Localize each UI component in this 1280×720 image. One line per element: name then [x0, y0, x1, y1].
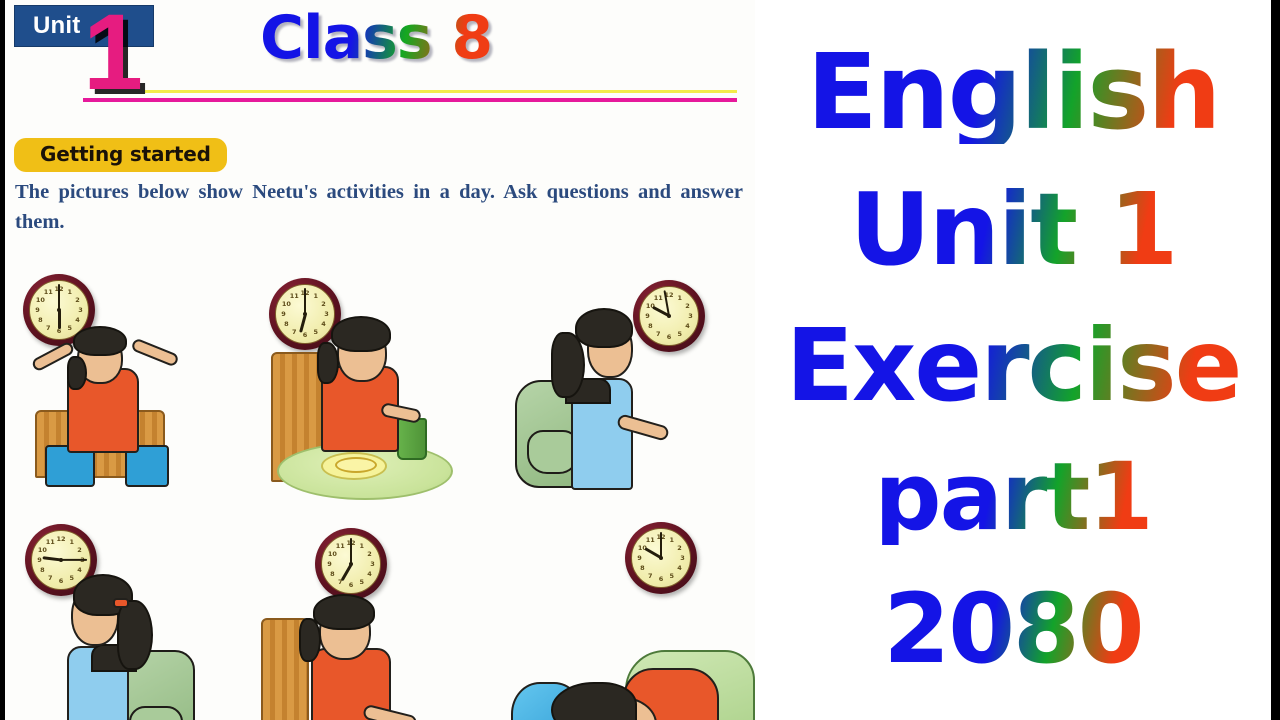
- section-banner-getting-started: Getting started: [14, 138, 227, 172]
- unit-badge-label: Unit: [15, 12, 80, 40]
- picture-sleeping: 12 1 2 3 4 5 6 7 8 9 10 11: [505, 510, 755, 720]
- title-line-exercise: Exercise: [786, 317, 1241, 415]
- clock-studying: 12 1 2 3 4 5 6 7 8 9 10 11: [315, 528, 387, 600]
- title-line-part1: part1: [874, 452, 1151, 544]
- video-thumbnail: Unit 1 Class 8 Getting started The pictu…: [0, 0, 1280, 720]
- title-line-unit-1: Unit 1: [850, 181, 1177, 279]
- picture-going-to-school: 12 1 2 3 4 5 6 7 8 9 10 11: [505, 260, 755, 510]
- title-line-english: English: [807, 42, 1220, 144]
- title-panel: English Unit 1 Exercise part1 2080: [755, 0, 1271, 720]
- clock-hour-hand: [58, 310, 61, 329]
- instruction-text: The pictures below show Neetu's activiti…: [15, 178, 743, 237]
- clock-center-pin: [57, 308, 61, 312]
- letterbox-bar-left: [0, 0, 5, 720]
- picture-breakfast: 12 1 2 3 4 5 6 7 8 9 10 11: [255, 260, 505, 510]
- letterbox-bar-right: [1271, 0, 1280, 720]
- activity-picture-grid: 12 1 2 3 4 5 6 7 8 9 10 11: [5, 260, 755, 720]
- clock-sleeping: 12 1 2 3 4 5 6 7 8 9 10 11: [625, 522, 697, 594]
- clock-going-to-school: 12 1 2 3 4 5 6 7 8 9 10 11: [633, 280, 705, 352]
- picture-row-1: 12 1 2 3 4 5 6 7 8 9 10 11: [5, 260, 755, 510]
- picture-row-2: 12 1 2 3 4 5 6 7 8 9 10 11: [5, 510, 755, 720]
- picture-returning-home: 12 1 2 3 4 5 6 7 8 9 10 11: [5, 510, 255, 720]
- worksheet-panel: Unit 1 Class 8 Getting started The pictu…: [5, 0, 755, 720]
- title-line-2080: 2080: [883, 582, 1142, 676]
- unit-number: 1: [83, 0, 143, 106]
- divider-pink: [83, 98, 737, 102]
- divider-yellow: [145, 90, 737, 93]
- picture-wake-up: 12 1 2 3 4 5 6 7 8 9 10 11: [5, 260, 255, 510]
- clock-minute-hand: [58, 284, 60, 310]
- class-heading: Class 8: [260, 8, 492, 68]
- picture-studying: 12 1 2 3 4 5 6 7 8 9 10 11: [255, 510, 505, 720]
